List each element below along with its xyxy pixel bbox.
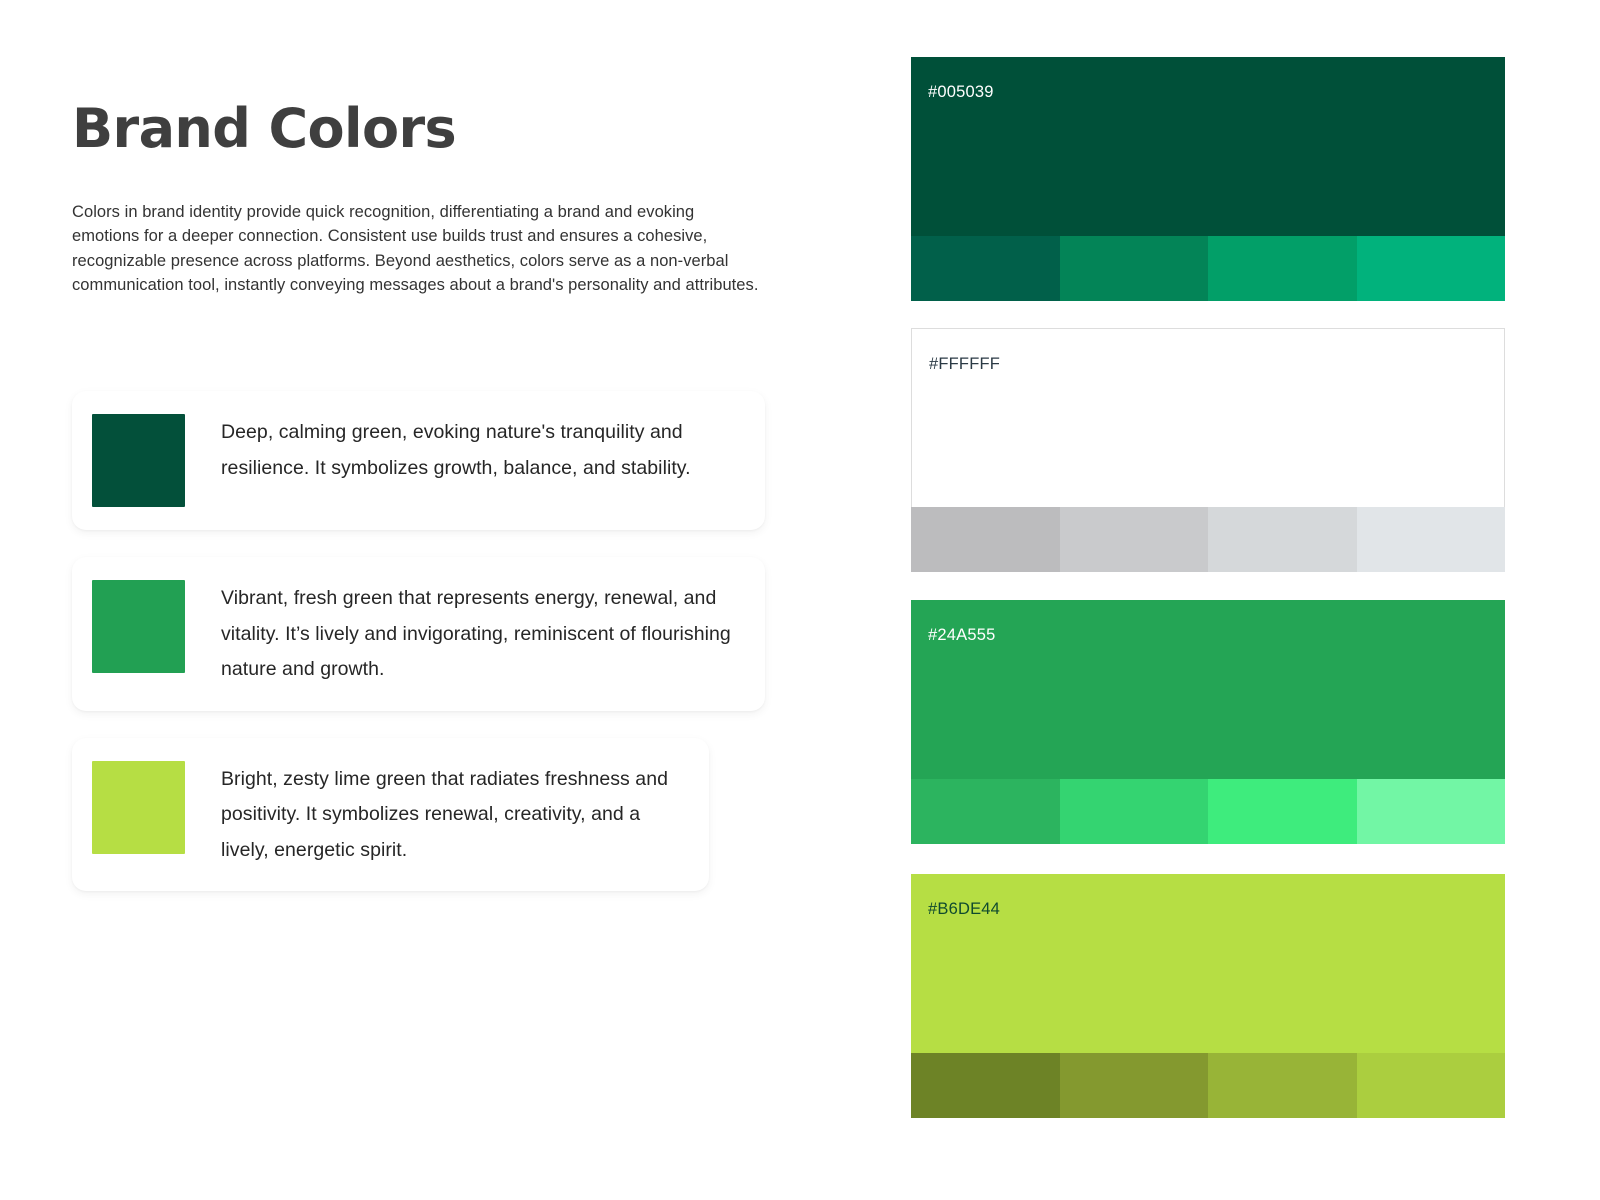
palette-tint-row	[911, 779, 1505, 844]
palette-tint	[911, 779, 1060, 844]
intro-paragraph: Colors in brand identity provide quick r…	[72, 200, 762, 298]
palette-column: #005039 #FFFFFF #24A555	[911, 0, 1535, 1200]
palette-swatch-group[interactable]: #FFFFFF	[911, 328, 1505, 572]
palette-swatch-group[interactable]: #005039	[911, 57, 1505, 301]
palette-main-color: #005039	[911, 57, 1505, 236]
palette-main-color: #24A555	[911, 600, 1505, 779]
palette-tint	[911, 236, 1060, 301]
palette-tint	[1060, 507, 1209, 572]
color-card[interactable]: Vibrant, fresh green that represents ene…	[72, 557, 765, 711]
palette-tint	[1208, 507, 1357, 572]
palette-tint	[911, 1053, 1060, 1118]
color-description: Bright, zesty lime green that radiates f…	[185, 761, 689, 869]
color-swatch	[92, 414, 185, 507]
palette-tint	[1357, 507, 1506, 572]
palette-main-color: #FFFFFF	[911, 328, 1505, 507]
palette-swatch-group[interactable]: #24A555	[911, 600, 1505, 844]
hex-code-label: #FFFFFF	[929, 355, 1000, 374]
hex-code-label: #B6DE44	[928, 900, 1000, 919]
color-card[interactable]: Bright, zesty lime green that radiates f…	[72, 738, 709, 892]
palette-tint	[1060, 779, 1209, 844]
color-swatch	[92, 580, 185, 673]
palette-tint-row	[911, 507, 1505, 572]
page-title: Brand Colors	[72, 98, 456, 160]
palette-tint	[1208, 779, 1357, 844]
palette-tint-row	[911, 1053, 1505, 1118]
color-description: Vibrant, fresh green that represents ene…	[185, 580, 745, 688]
palette-tint	[1208, 236, 1357, 301]
color-description-list: Deep, calming green, evoking nature's tr…	[72, 391, 832, 918]
palette-tint-row	[911, 236, 1505, 301]
palette-tint	[1357, 236, 1506, 301]
color-swatch	[92, 761, 185, 854]
palette-main-color: #B6DE44	[911, 874, 1505, 1053]
palette-tint	[1357, 1053, 1506, 1118]
palette-swatch-group[interactable]: #B6DE44	[911, 874, 1505, 1118]
color-card[interactable]: Deep, calming green, evoking nature's tr…	[72, 391, 765, 530]
palette-tint	[911, 507, 1060, 572]
color-description: Deep, calming green, evoking nature's tr…	[185, 414, 745, 486]
palette-tint	[1060, 1053, 1209, 1118]
hex-code-label: #24A555	[928, 626, 995, 645]
palette-tint	[1357, 779, 1506, 844]
palette-tint	[1060, 236, 1209, 301]
palette-tint	[1208, 1053, 1357, 1118]
hex-code-label: #005039	[928, 83, 994, 102]
left-column: Brand Colors Colors in brand identity pr…	[72, 0, 832, 1200]
